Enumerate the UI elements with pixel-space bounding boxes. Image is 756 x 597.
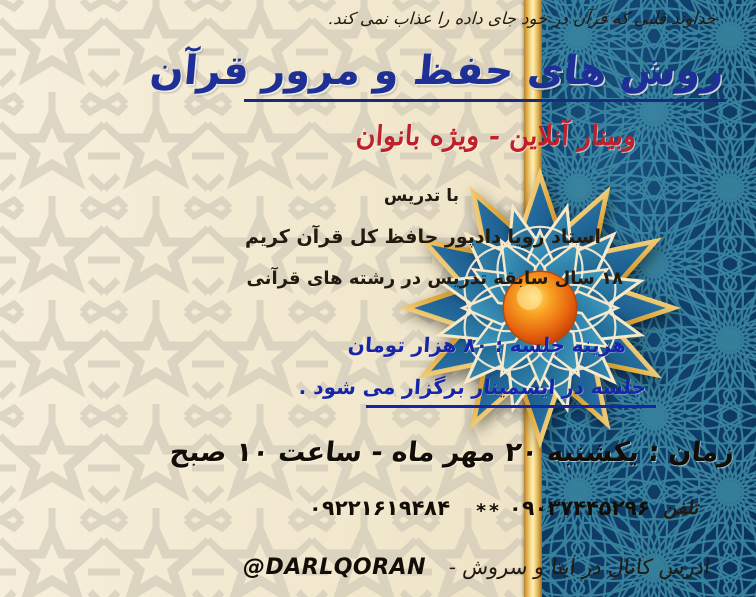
session-platform: جلسه در ایسمینار برگزار می شود . [298, 375, 647, 399]
page-title: روش های حفظ و مرور قرآن [148, 48, 726, 94]
channel-handle[interactable]: @DARLQORAN [243, 555, 426, 580]
webinar-subtitle: وبینار آنلاین - ویژه بانوان [355, 121, 637, 152]
session-price: هزینه جلسه : ۸۰ هزار تومان [347, 333, 627, 357]
teacher-name: استاد رویا دادپور حافظ کل قرآن کریم [245, 226, 601, 248]
poster-canvas: خداوند قلبی که قرآن در خود جای داده را ع… [0, 0, 756, 597]
platform-underline-rule [366, 405, 656, 408]
phone-primary[interactable]: ۰۹۰۳۷۴۴۵۲۹۶ [508, 496, 651, 520]
phone-secondary[interactable]: ۰۹۲۲۱۶۱۹۴۸۴ [308, 496, 451, 520]
islamic-twelve-point-star-icon [395, 163, 685, 453]
hadith-quote: خداوند قلبی که قرآن در خود جای داده را ع… [327, 9, 716, 28]
title-underline-rule [244, 99, 726, 102]
phone-label: تلفن [663, 497, 702, 519]
teaching-label: با تدریس [384, 186, 459, 206]
phone-separator: ** [476, 500, 502, 522]
teacher-experience: ۱۸ سال سابقه تدریس در رشته های قرآنی [246, 268, 623, 289]
session-datetime: زمان : یکشنبه ۲۰ مهر ماه - ساعت ۱۰ صبح [168, 437, 735, 468]
channel-label: ادرس کانال در ایتا و سروش - [448, 555, 712, 579]
